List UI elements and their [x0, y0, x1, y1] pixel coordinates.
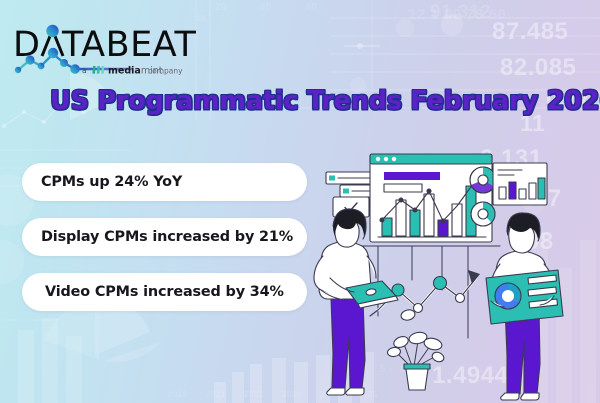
page-title: US Programmatic Trends February 2026: [50, 86, 600, 116]
watermark-circle: [441, 14, 463, 36]
watermark-bar-chart-left: [18, 318, 82, 403]
highlight-item[interactable]: Video CPMs increased by 34%: [22, 273, 307, 311]
tagline-suffix: company: [148, 67, 183, 76]
analytics-team-illustration: [300, 138, 600, 403]
mediamint-bars-mark: [92, 66, 104, 74]
highlight-item[interactable]: CPMs up 24% YoY: [22, 163, 307, 201]
illustration-svg: [300, 138, 600, 403]
plant-flower: [431, 351, 445, 364]
watermark-year-label: 2020: [168, 390, 188, 399]
plant-flower: [387, 347, 401, 358]
watermark-number: 20: [215, 2, 227, 13]
highlight-item[interactable]: Display CPMs increased by 21%: [22, 218, 307, 256]
svg-text:TABEAT: TABEAT: [61, 25, 196, 65]
databeat-logo[interactable]: D TABEAT a: [12, 16, 202, 78]
window-dot: [384, 157, 388, 161]
dashboard-donut-chart-1: [470, 167, 496, 193]
watermark-circle: [0, 240, 24, 284]
floating-list-card-1: [326, 172, 374, 184]
dashboard-title-bar: [384, 172, 440, 180]
watermark-circle: [396, 19, 414, 37]
man-with-report-card: [486, 213, 563, 400]
highlights-list: CPMs up 24% YoY Display CPMs increased b…: [22, 163, 307, 328]
tagline-prefix: a: [82, 66, 87, 75]
watermark-year-label: 2023: [282, 390, 302, 399]
infographic-canvas: 91.312 87.485 82.085 0.776 12 1 89 78 60…: [0, 0, 600, 403]
window-dot: [376, 157, 380, 161]
pot-body: [406, 369, 428, 390]
databeat-wordmark: D TABEAT: [13, 25, 196, 65]
watermark-number: 82.085: [500, 54, 576, 82]
highlight-text: Video CPMs increased by 34%: [22, 284, 284, 300]
pot-rim: [404, 364, 430, 369]
watermark-number: 91.312: [430, 2, 491, 24]
window-dot: [392, 157, 396, 161]
watermark-number: 30: [260, 2, 272, 13]
logo-apex-dot: [46, 25, 58, 37]
dashboard-donut-chart-2: [471, 202, 495, 226]
watermark-slider-knob: [357, 43, 363, 49]
databeat-logo-svg: D TABEAT a: [12, 16, 202, 78]
highlight-text: Display CPMs increased by 21%: [22, 229, 293, 245]
watermark-year-label: 2022: [244, 390, 264, 399]
watermark-number: 40: [305, 2, 317, 13]
floating-report-card: [493, 163, 547, 205]
highlight-text: CPMs up 24% YoY: [22, 174, 182, 190]
report-card: [486, 270, 563, 324]
watermark-year-label: 2021: [206, 390, 226, 399]
dashboard-search-field: [384, 184, 422, 192]
browser-dashboard-window: [370, 154, 496, 242]
potted-plant: [387, 308, 445, 390]
watermark-number: 87.485: [492, 18, 568, 46]
watermark-number: 12 1 89 78 60: [408, 6, 506, 23]
